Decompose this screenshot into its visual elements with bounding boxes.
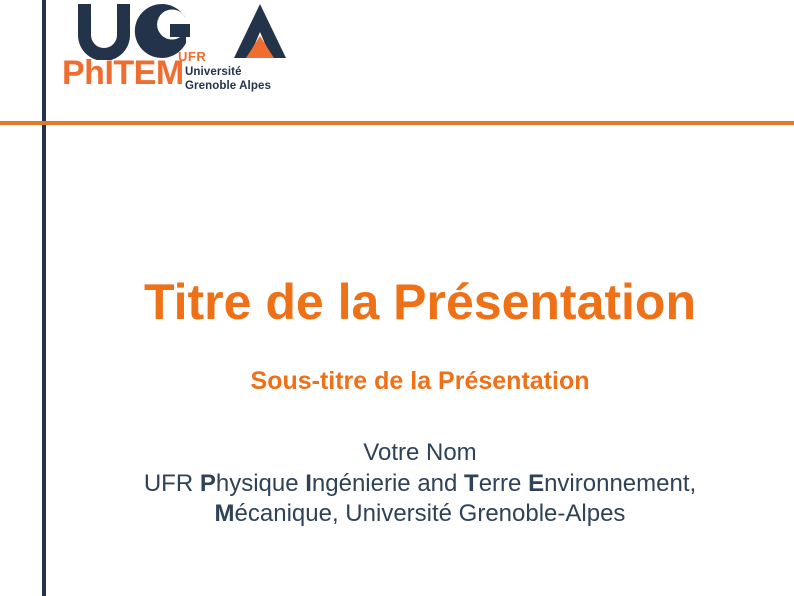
affiliation-text: hysique xyxy=(216,470,305,497)
logo-university-line-2: Grenoble Alpes xyxy=(185,80,271,92)
affiliation-text: erre xyxy=(479,470,528,497)
slide-content: Titre de la Présentation Sous-titre de l… xyxy=(46,125,794,596)
affiliation-initial-e: E xyxy=(528,470,544,497)
affiliation-line-2: Mécanique, Université Grenoble-Alpes xyxy=(46,499,794,530)
affiliation-text: écanique, Université Grenoble-Alpes xyxy=(235,500,626,527)
affiliation-initial-m: M xyxy=(215,500,235,527)
affiliation-text: ngénierie and xyxy=(312,470,464,497)
affiliation-line-1: UFR Physique Ingénierie and Terre Enviro… xyxy=(46,469,794,500)
affiliation-text: nvironnement, xyxy=(544,470,696,497)
affiliation-initial-i: I xyxy=(305,470,312,497)
logo-phitem-wordmark: PhITEM xyxy=(62,56,184,90)
affiliation-initial-p: P xyxy=(200,470,216,497)
presentation-title-slide: UFR PhITEM Université Grenoble Alpes Tit… xyxy=(0,0,794,596)
affiliation-initial-t: T xyxy=(464,470,479,497)
affiliation-text: UFR xyxy=(144,470,200,497)
author-name: Votre Nom xyxy=(46,438,794,469)
presentation-title: Titre de la Présentation xyxy=(46,276,794,329)
uga-phitem-logo: UFR PhITEM Université Grenoble Alpes xyxy=(62,2,288,102)
logo-university-line-1: Université xyxy=(185,66,242,78)
logo-university-name: Université Grenoble Alpes xyxy=(185,65,271,93)
author-block: Votre Nom UFR Physique Ingénierie and Te… xyxy=(46,438,794,530)
presentation-subtitle: Sous-titre de la Présentation xyxy=(46,368,794,396)
